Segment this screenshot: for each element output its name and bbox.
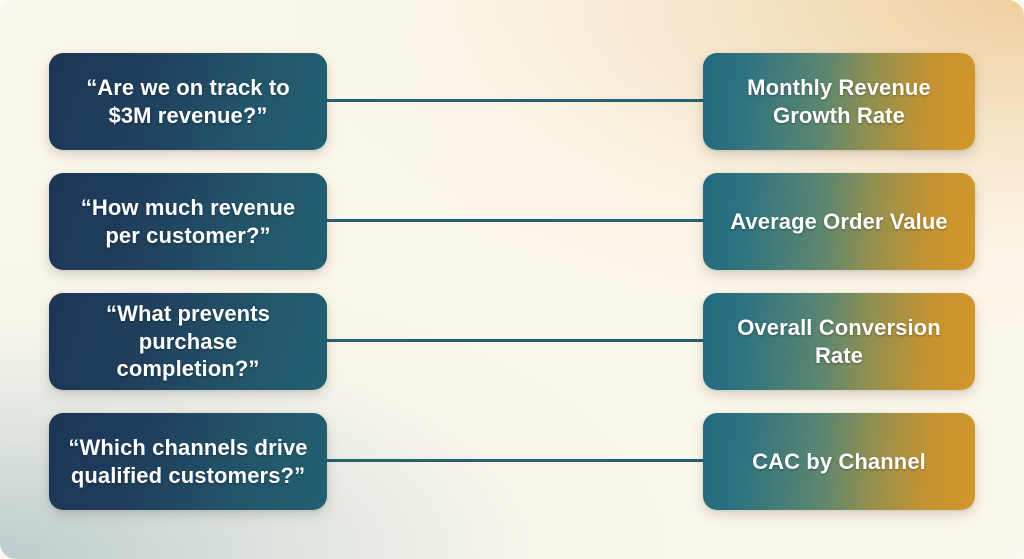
connector-line-row-2 bbox=[325, 219, 705, 222]
connector-line-row-1 bbox=[325, 99, 705, 102]
question-card-1[interactable]: “Are we on track to $3M revenue?” bbox=[49, 53, 327, 150]
question-card-2[interactable]: “How much revenue per customer?” bbox=[49, 173, 327, 270]
diagram-canvas: “Are we on track to $3M revenue?” Monthl… bbox=[0, 0, 1024, 559]
metric-card-1[interactable]: Monthly Revenue Growth Rate bbox=[703, 53, 975, 150]
metric-card-4[interactable]: CAC by Channel bbox=[703, 413, 975, 510]
question-card-3[interactable]: “What prevents purchase completion?” bbox=[49, 293, 327, 390]
metric-card-3-label: Overall Conversion Rate bbox=[737, 314, 941, 369]
metric-card-1-label: Monthly Revenue Growth Rate bbox=[747, 74, 931, 129]
metric-card-4-label: CAC by Channel bbox=[752, 448, 926, 476]
connector-line-row-4 bbox=[325, 459, 705, 462]
metric-card-2-label: Average Order Value bbox=[730, 208, 948, 236]
question-card-1-label: “Are we on track to $3M revenue?” bbox=[86, 74, 290, 129]
metric-card-2[interactable]: Average Order Value bbox=[703, 173, 975, 270]
question-card-2-label: “How much revenue per customer?” bbox=[81, 194, 295, 249]
question-card-4[interactable]: “Which channels drive qualified customer… bbox=[49, 413, 327, 510]
question-card-4-label: “Which channels drive qualified customer… bbox=[68, 434, 307, 489]
connector-line-row-3 bbox=[325, 339, 705, 342]
metric-card-3[interactable]: Overall Conversion Rate bbox=[703, 293, 975, 390]
question-card-3-label: “What prevents purchase completion?” bbox=[67, 300, 309, 383]
